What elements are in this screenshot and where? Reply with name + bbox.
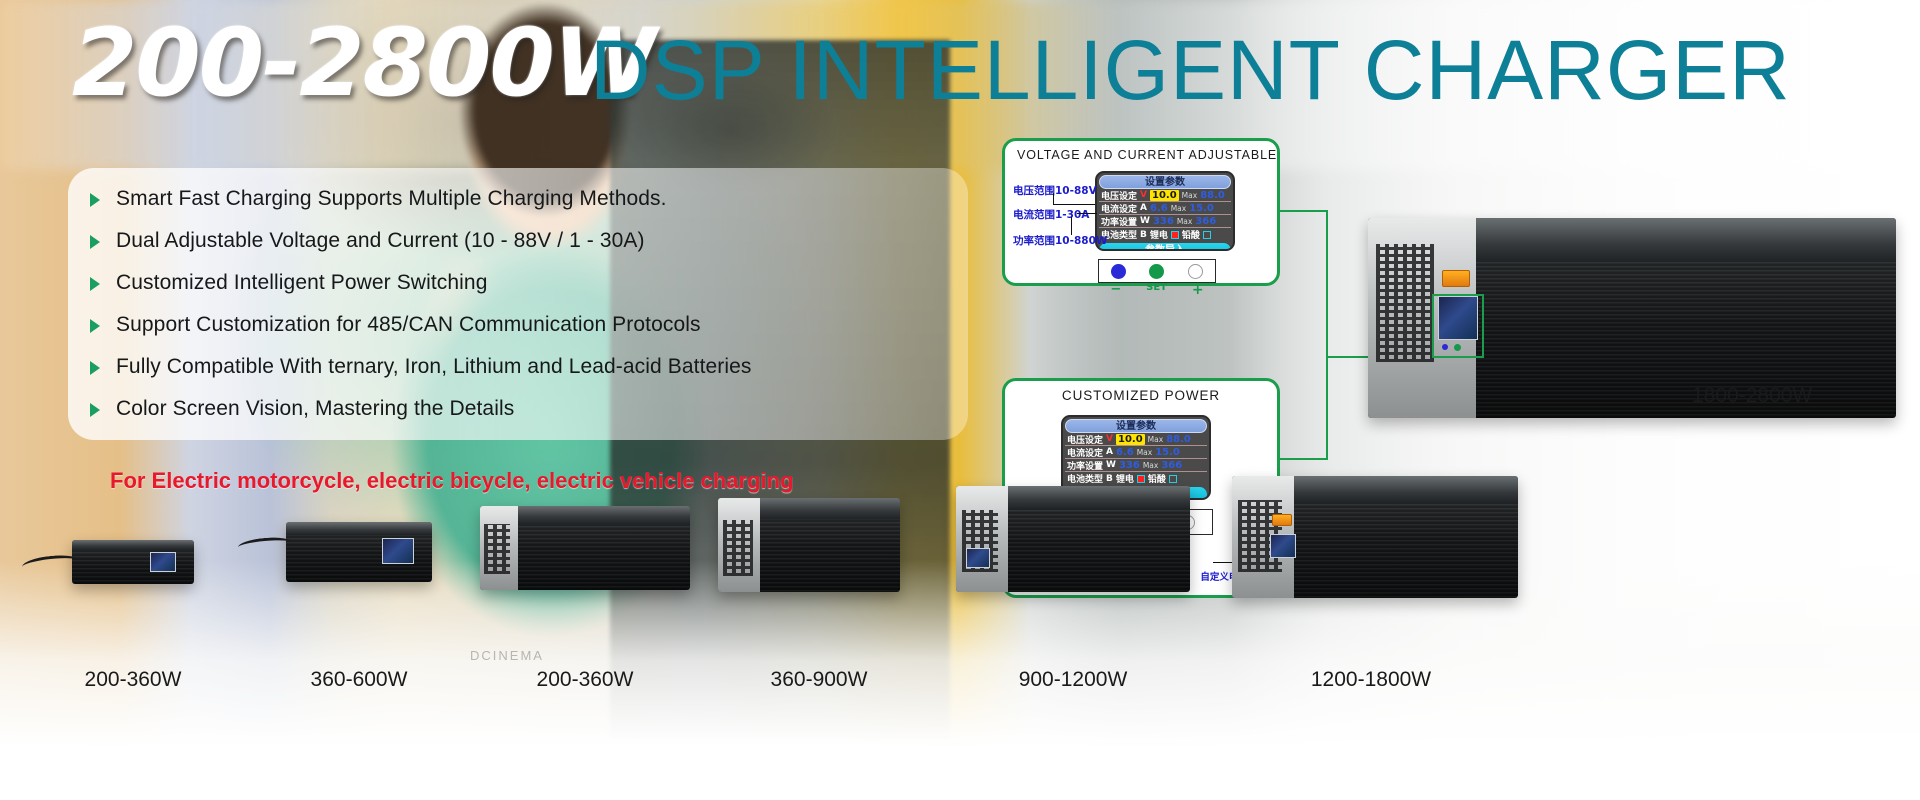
lcd-row-unit: V [1106,434,1113,444]
lcd-row-unit: W [1106,460,1116,470]
list-item: Support Customization for 485/CAN Commun… [88,304,948,346]
lcd-row-current: 电流设定 A 6.6 Max 15.0 [1099,202,1231,215]
lcd-row-max-label: Max [1143,461,1159,470]
leader-line-power [1071,217,1097,235]
minus-button[interactable] [1111,264,1126,279]
feature-text: Support Customization for 485/CAN Commun… [116,313,701,337]
product-200-360w-a [72,540,194,584]
product-label: 360-900W [728,668,910,692]
product-label: 200-360W [494,668,676,692]
lcd-row-max-label: Max [1137,448,1153,457]
lcd-row-power: 功率设置 W 336 Max 366 [1065,459,1207,472]
button-strip-labels: − SET + [1098,282,1216,298]
button-strip-voltage [1098,259,1216,283]
lcd-row-value: 10.0 [1116,434,1145,445]
product-mini-screen [966,548,990,568]
bullet-triangle-icon [88,400,104,418]
lcd-row-label: 电压设定 [1101,189,1137,202]
unit-button-green [1454,344,1461,351]
product-featured-label: 1800-2800W [1692,384,1812,408]
bullet-triangle-icon [88,274,104,292]
lcd-row-max-value: 366 [1195,216,1216,227]
product-label: 1200-1800W [1258,668,1484,692]
list-item: Fully Compatible With ternary, Iron, Lit… [88,346,948,388]
minus-label: − [1110,282,1121,298]
lcd-row-label: 电流设定 [1101,202,1137,215]
lcd-row-max-value: 88.0 [1166,434,1191,445]
product-label: 900-1200W [982,668,1164,692]
lcd-row-label: 功率设置 [1067,459,1103,472]
lcd-import-button[interactable]: 参数导入 [1099,243,1231,251]
lcd-row-battery-type: 电池类型 B 锂电 铅酸 [1099,228,1231,241]
lcd-option-lithium-label: 锂电 [1116,472,1134,485]
product-200-360w-b [480,506,690,590]
product-mini-screen [150,552,176,572]
callout-power-range: 功率范围10-880W [1013,233,1107,248]
feature-text: Color Screen Vision, Mastering the Detai… [116,397,514,421]
headline-power-range: 200-2800W [72,14,655,114]
lcd-option-lithium-label: 锂电 [1150,228,1168,241]
lcd-checkbox-lithium[interactable] [1171,231,1179,239]
lcd-row-max-label: Max [1177,217,1193,226]
product-label: 200-360W [42,668,224,692]
plus-label: + [1192,282,1204,298]
product-vents [1376,244,1434,362]
lcd-row-value: 10.0 [1150,190,1179,201]
lcd-display-voltage: 设置参数 电压设定 V 10.0 Max 88.0 电流设定 A 6.6 Max… [1095,171,1235,251]
lcd-row-value: 336 [1119,460,1140,471]
panel-title: CUSTOMIZED POWER [1005,388,1277,403]
lcd-row-voltage: 电压设定 V 10.0 Max 88.0 [1099,189,1231,202]
lcd-row-value: 6.6 [1150,203,1168,214]
product-360-600w [286,522,432,582]
bullet-triangle-icon [88,358,104,376]
product-vents [723,520,753,576]
page-title: 200-2800W DSP INTELLIGENT CHARGER [0,12,1920,122]
list-item: Smart Fast Charging Supports Multiple Ch… [88,178,948,220]
list-item: Dual Adjustable Voltage and Current (10 … [88,220,948,262]
product-banner: 200-2800W DSP INTELLIGENT CHARGER Smart … [0,0,1920,800]
lcd-row-max-label: Max [1171,204,1187,213]
tagline: For Electric motorcycle, electric bicycl… [110,468,794,494]
product-mini-screen [1270,534,1296,558]
product-1200-1800w [1232,476,1518,598]
lcd-row-value: 336 [1153,216,1174,227]
lcd-row-label: 电池类型 [1067,472,1103,485]
lcd-row-unit: V [1140,190,1147,200]
lcd-header: 设置参数 [1099,175,1231,189]
lcd-row-max-label: Max [1182,191,1198,200]
lcd-row-label: 电流设定 [1067,446,1103,459]
xt-connector [1442,270,1470,287]
product-top-face [72,540,194,550]
feature-text: Fully Compatible With ternary, Iron, Lit… [116,355,752,379]
connector-pipe-vertical [1326,210,1328,460]
lcd-checkbox-lead[interactable] [1203,231,1211,239]
bullet-triangle-icon [88,316,104,334]
connector-pipe-voltage [1278,210,1328,212]
bullet-triangle-icon [88,232,104,250]
watermark: DCINEMA [470,648,544,663]
product-top-face [286,522,432,535]
lcd-row-max-value: 15.0 [1189,203,1214,214]
set-button[interactable] [1149,264,1164,279]
lcd-option-lead-label: 铅酸 [1148,472,1166,485]
leader-line-current [1077,213,1097,214]
product-mini-screen [382,538,414,564]
lcd-row-label: 功率设置 [1101,215,1137,228]
product-360-900w [718,498,900,592]
lcd-row-value: 6.6 [1116,447,1134,458]
xt-connector [1272,514,1292,526]
bullet-triangle-icon [88,190,104,208]
product-featured-1800-2800w [1368,218,1896,418]
lcd-header: 设置参数 [1065,419,1207,433]
feature-text: Customized Intelligent Power Switching [116,271,487,295]
lcd-row-power: 功率设置 W 336 Max 366 [1099,215,1231,228]
product-900-1200w [956,486,1190,592]
list-item: Color Screen Vision, Mastering the Detai… [88,388,948,430]
panel-title: VOLTAGE AND CURRENT ADJUSTABLE [1017,148,1289,162]
lcd-row-voltage: 电压设定 V 10.0 Max 88.0 [1065,433,1207,446]
list-item: Customized Intelligent Power Switching [88,262,948,304]
connector-pipe-power [1278,458,1328,460]
lcd-row-unit: W [1140,216,1150,226]
lcd-row-max-value: 88.0 [1200,190,1225,201]
lcd-row-max-value: 15.0 [1155,447,1180,458]
lcd-row-unit: B [1106,474,1113,484]
product-label: 360-600W [268,668,450,692]
lcd-row-unit: B [1140,230,1147,240]
set-label: SET [1146,282,1167,298]
panel-voltage-current-adjustable: VOLTAGE AND CURRENT ADJUSTABLE 设置参数 电压设定… [1002,138,1280,286]
lcd-row-max-value: 366 [1161,460,1182,471]
leader-line-voltage [1053,193,1095,205]
lcd-row-unit: A [1106,447,1113,457]
product-vents [484,524,510,574]
lcd-row-unit: A [1140,203,1147,213]
feature-text: Dual Adjustable Voltage and Current (10 … [116,229,645,253]
feature-text: Smart Fast Charging Supports Multiple Ch… [116,187,667,211]
lcd-option-lead-label: 铅酸 [1182,228,1200,241]
lcd-row-max-label: Max [1148,435,1164,444]
lcd-row-battery-type: 电池类型 B 锂电 铅酸 [1065,472,1207,485]
lcd-row-label: 电压设定 [1067,433,1103,446]
lcd-checkbox-lithium[interactable] [1137,475,1145,483]
headline-product-name: DSP INTELLIGENT CHARGER [590,20,1791,120]
plus-button[interactable] [1188,264,1203,279]
feature-list: Smart Fast Charging Supports Multiple Ch… [88,178,948,430]
unit-button-blue [1442,344,1448,350]
lcd-checkbox-lead[interactable] [1169,475,1177,483]
lcd-row-current: 电流设定 A 6.6 Max 15.0 [1065,446,1207,459]
